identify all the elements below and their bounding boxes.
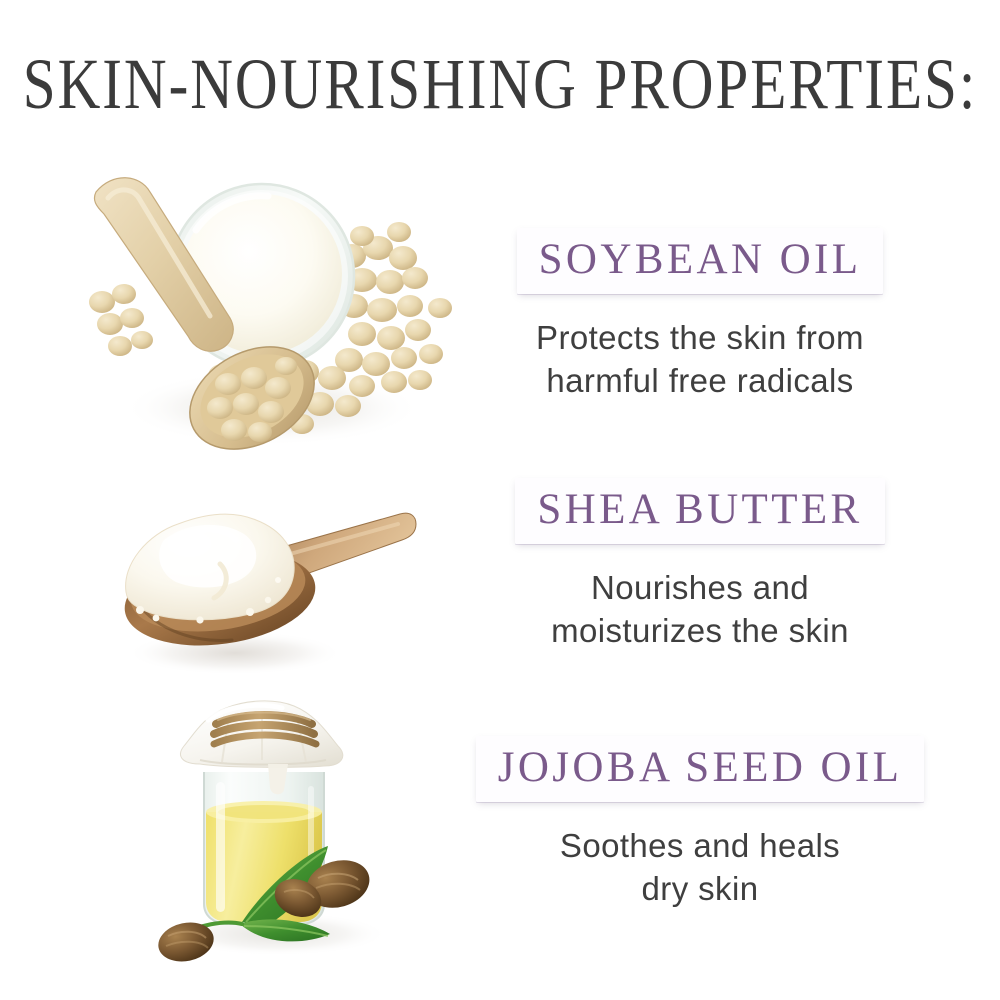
ingredient-copy-jojoba-seed-oil: JOJOBA SEED OIL Soothes and heals dry sk… [430,736,970,910]
heading-band-soybean-oil: SOYBEAN OIL [517,228,884,294]
heading-band-shea-butter: SHEA BUTTER [515,478,884,544]
ingredient-heading-shea-butter: SHEA BUTTER [537,486,862,534]
page-title: SKIN-NOURISHING PROPERTIES: [15,48,985,124]
infographic-page: SKIN-NOURISHING PROPERTIES: [0,0,1000,1000]
ingredient-description-jojoba-seed-oil: Soothes and heals dry skin [430,824,970,910]
ingredient-heading-soybean-oil: SOYBEAN OIL [539,236,862,284]
ingredient-copy-soybean-oil: SOYBEAN OIL Protects the skin from harmf… [460,228,940,402]
ingredient-description-soybean-oil: Protects the skin from harmful free radi… [460,316,940,402]
heading-band-jojoba-seed-oil: JOJOBA SEED OIL [476,736,925,802]
ingredient-row-shea-butter: SHEA BUTTER Nourishes and moisturizes th… [0,470,1000,700]
soybean-oil-bowl-and-spoon-image [62,158,462,458]
ingredient-row-jojoba-seed-oil: JOJOBA SEED OIL Soothes and heals dry sk… [0,680,1000,980]
ingredient-description-shea-butter: Nourishes and moisturizes the skin [460,566,940,652]
ingredient-row-soybean-oil: SOYBEAN OIL Protects the skin from harmf… [0,150,1000,470]
jojoba-seed-oil-jar-image [142,686,422,966]
soybean-cluster-right [335,222,452,397]
shea-butter-mound [126,514,295,623]
ingredient-heading-jojoba-seed-oil: JOJOBA SEED OIL [498,744,903,792]
shea-butter-spoon-image [100,488,430,678]
ingredient-copy-shea-butter: SHEA BUTTER Nourishes and moisturizes th… [460,478,940,652]
